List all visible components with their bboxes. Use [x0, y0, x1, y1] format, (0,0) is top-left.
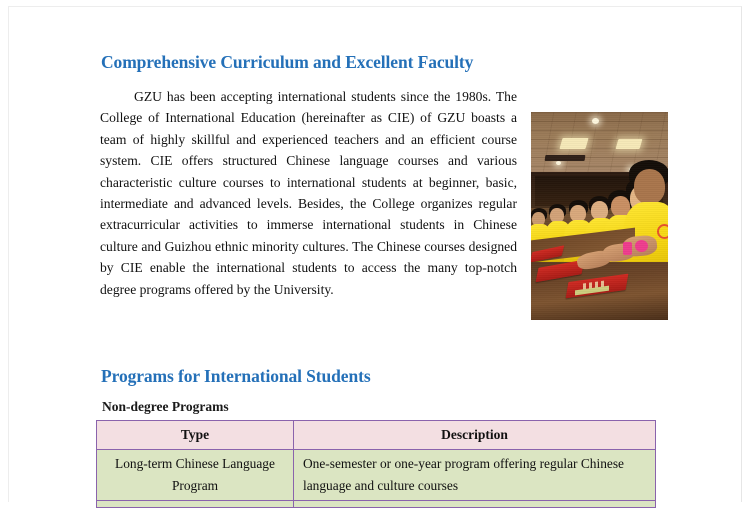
table-header-row: Type Description: [97, 421, 656, 450]
classroom-photo: [531, 112, 668, 320]
table-body: Long-term Chinese Language Program One-s…: [97, 450, 656, 508]
table-row-partial: [97, 501, 656, 508]
cell-program-description: One-semester or one-year program offerin…: [294, 450, 656, 501]
table-row: Long-term Chinese Language Program One-s…: [97, 450, 656, 501]
non-degree-programs-subheading: Non-degree Programs: [102, 399, 229, 415]
cell-program-type: Long-term Chinese Language Program: [97, 450, 294, 501]
intro-block: GZU has been accepting international stu…: [100, 86, 668, 326]
document-page: Comprehensive Curriculum and Excellent F…: [0, 0, 750, 500]
cell-program-type-partial: [97, 501, 294, 508]
document-content: Comprehensive Curriculum and Excellent F…: [100, 0, 670, 500]
column-header-description: Description: [294, 421, 656, 450]
programs-heading: Programs for International Students: [101, 366, 371, 387]
page-title: Comprehensive Curriculum and Excellent F…: [101, 52, 473, 73]
photo-grain: [531, 112, 668, 320]
non-degree-programs-table: Type Description Long-term Chinese Langu…: [96, 420, 656, 508]
table-header: Type Description: [97, 421, 656, 450]
cell-program-description-partial: [294, 501, 656, 508]
column-header-type: Type: [97, 421, 294, 450]
